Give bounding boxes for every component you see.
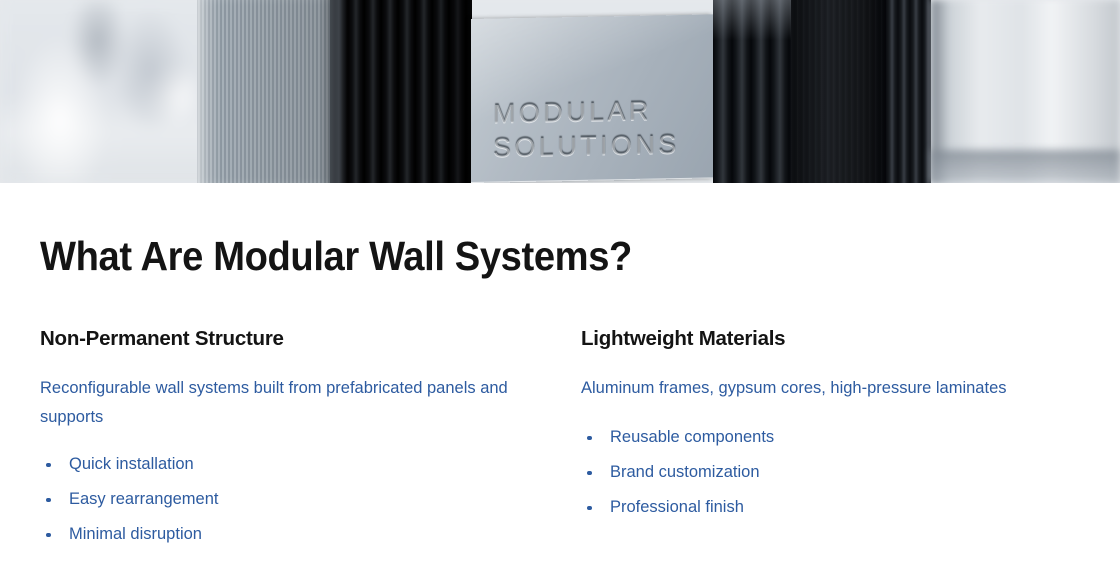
hero-sign-text: MODULAR SOLUTIONS: [493, 93, 703, 166]
list-item: Brand customization: [581, 455, 1080, 490]
feature-column-lightweight-materials: Lightweight Materials Aluminum frames, g…: [581, 327, 1080, 552]
feature-column-non-permanent-structure: Non-Permanent Structure Reconfigurable w…: [40, 327, 539, 552]
hero-dark-column: [791, 0, 886, 183]
hero-dark-fins-center: [713, 0, 791, 183]
hero-sign-line-2: SOLUTIONS: [493, 127, 703, 165]
list-item: Reusable components: [581, 420, 1080, 455]
hero-light-slat-panel: [197, 0, 330, 183]
hero-sign-line-1: MODULAR: [493, 93, 703, 131]
hero-dark-slat-panel-left: [330, 0, 472, 183]
feature-description: Reconfigurable wall systems built from p…: [40, 352, 530, 432]
feature-bullet-list: Reusable components Brand customization …: [581, 403, 1080, 525]
list-item: Easy rearrangement: [40, 482, 539, 517]
hero-sign-panel: MODULAR SOLUTIONS: [471, 14, 713, 183]
hero-image: MODULAR SOLUTIONS: [0, 0, 1120, 183]
page-title: What Are Modular Wall Systems?: [40, 183, 1007, 277]
content-section: What Are Modular Wall Systems? Non-Perma…: [0, 183, 1120, 552]
feature-columns: Non-Permanent Structure Reconfigurable w…: [40, 327, 1080, 552]
list-item: Professional finish: [581, 490, 1080, 525]
list-item: Quick installation: [40, 447, 539, 482]
hero-blurred-floor-right: [931, 150, 1120, 183]
hero-dark-fins-right: [886, 0, 931, 183]
feature-heading: Non-Permanent Structure: [40, 327, 539, 352]
feature-description: Aluminum frames, gypsum cores, high-pres…: [581, 352, 1071, 403]
feature-heading: Lightweight Materials: [581, 327, 1080, 352]
list-item: Minimal disruption: [40, 517, 539, 552]
feature-bullet-list: Quick installation Easy rearrangement Mi…: [40, 432, 539, 552]
